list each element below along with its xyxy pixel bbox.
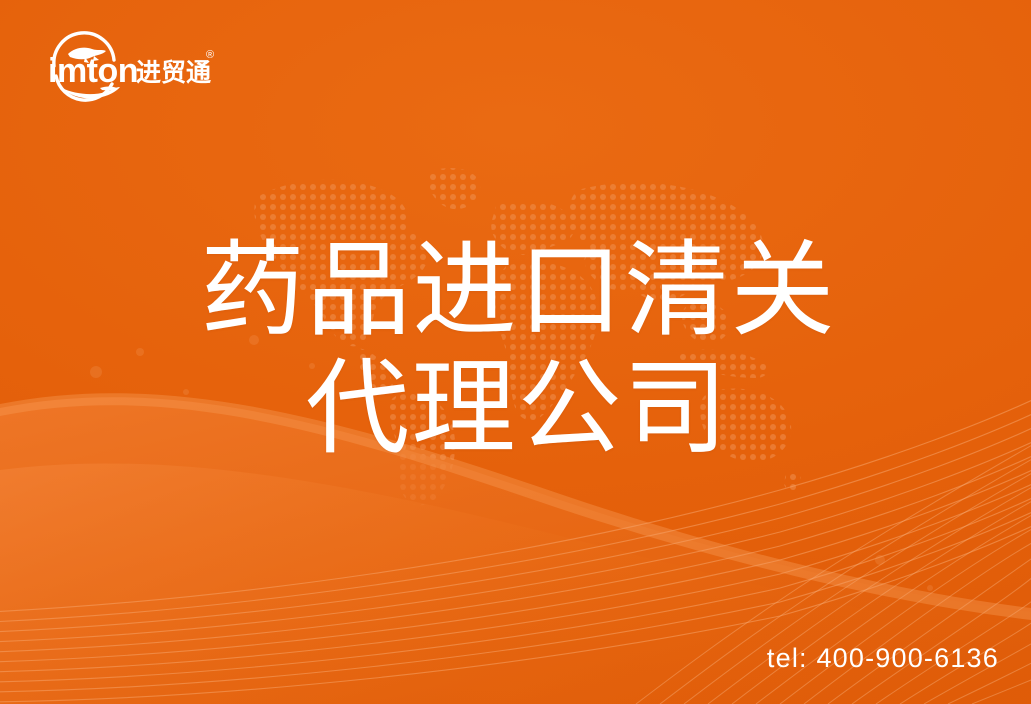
imton-logo[interactable]: imton 进贸通 ® <box>40 24 220 104</box>
logo-wordmark: imton <box>48 52 138 90</box>
promo-banner: imton 进贸通 ® 药品进口清关 代理公司 tel: 400-900-613… <box>0 0 1031 704</box>
page-title: 药品进口清关 代理公司 <box>0 232 1031 468</box>
headline-line-1: 药品进口清关 <box>0 232 1031 350</box>
contact-phone: tel: 400-900-6136 <box>767 643 999 674</box>
logo-chinese-name: 进贸通 <box>136 59 211 87</box>
headline-line-2: 代理公司 <box>0 350 1031 468</box>
trademark-icon: ® <box>206 49 214 61</box>
